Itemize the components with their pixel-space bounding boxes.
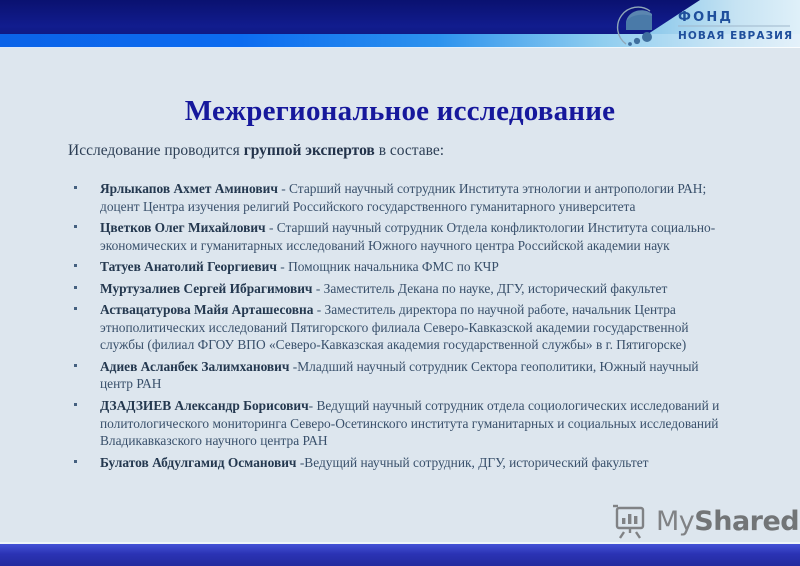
- presentation-slide: ФОНД НОВАЯ ЕВРАЗИЯ Межрегиональное иссле…: [0, 0, 800, 566]
- list-item: ДЗАДЗИЕВ Александр Борисович- Ведущий на…: [68, 397, 728, 450]
- list-item: Адиев Асланбек Залимханович -Младший нау…: [68, 358, 728, 393]
- list-item: Муртузалиев Сергей Ибрагимович - Замести…: [68, 280, 728, 298]
- myshared-watermark: MyShared: [612, 504, 794, 544]
- list-item: Аствацатурова Майя Арташесовна - Замести…: [68, 301, 728, 354]
- list-item: Татуев Анатолий Георгиевич - Помощник на…: [68, 258, 728, 276]
- presentation-chart-icon: [612, 504, 652, 542]
- expert-name: Аствацатурова Майя Арташесовна: [100, 302, 313, 317]
- expert-name: Муртузалиев Сергей Ибрагимович: [100, 281, 312, 296]
- watermark-text-bold: Shared: [694, 506, 799, 537]
- expert-name: ДЗАДЗИЕВ Александр Борисович: [100, 398, 309, 413]
- expert-description: - Заместитель Декана по науке, ДГУ, исто…: [312, 281, 667, 296]
- expert-name: Булатов Абдулгамид Османович: [100, 455, 296, 470]
- lead-text-bold: группой экспертов: [244, 142, 375, 159]
- list-item: Ярлыкапов Ахмет Аминович - Старший научн…: [68, 180, 728, 215]
- bullet-icon: [74, 403, 77, 406]
- lead-paragraph: Исследование проводится группой эксперто…: [68, 141, 748, 160]
- watermark-text-light: My: [656, 506, 694, 537]
- bullet-icon: [74, 460, 77, 463]
- bullet-icon: [74, 186, 77, 189]
- lead-text-before: Исследование проводится: [68, 142, 244, 159]
- expert-name: Адиев Асланбек Залимханович: [100, 359, 289, 374]
- expert-list: Ярлыкапов Ахмет Аминович - Старший научн…: [68, 180, 728, 475]
- foundation-logo: ФОНД НОВАЯ ЕВРАЗИЯ: [604, 2, 792, 48]
- expert-name: Цветков Олег Михайлович: [100, 220, 266, 235]
- expert-description: -Ведущий научный сотрудник, ДГУ, историч…: [296, 455, 648, 470]
- expert-description: - Помощник начальника ФМС по КЧР: [277, 259, 499, 274]
- logo-brand-line2-text: НОВАЯ ЕВРАЗИЯ: [678, 30, 792, 42]
- slide-header-banner: ФОНД НОВАЯ ЕВРАЗИЯ: [0, 0, 800, 48]
- watermark-label: MyShared: [656, 506, 799, 537]
- list-item: Булатов Абдулгамид Османович -Ведущий на…: [68, 454, 728, 472]
- logo-brand-line1-text: ФОНД: [678, 10, 733, 25]
- lead-text-after: в составе:: [375, 142, 444, 159]
- bullet-icon: [74, 286, 77, 289]
- bullet-icon: [74, 264, 77, 267]
- bullet-icon: [74, 225, 77, 228]
- bullet-icon: [74, 364, 77, 367]
- page-title: Межрегиональное исследование: [0, 96, 800, 126]
- bullet-icon: [74, 307, 77, 310]
- expert-name: Татуев Анатолий Георгиевич: [100, 259, 277, 274]
- list-item: Цветков Олег Михайлович - Старший научны…: [68, 219, 728, 254]
- slide-footer-bar: [0, 544, 800, 566]
- expert-name: Ярлыкапов Ахмет Аминович: [100, 181, 278, 196]
